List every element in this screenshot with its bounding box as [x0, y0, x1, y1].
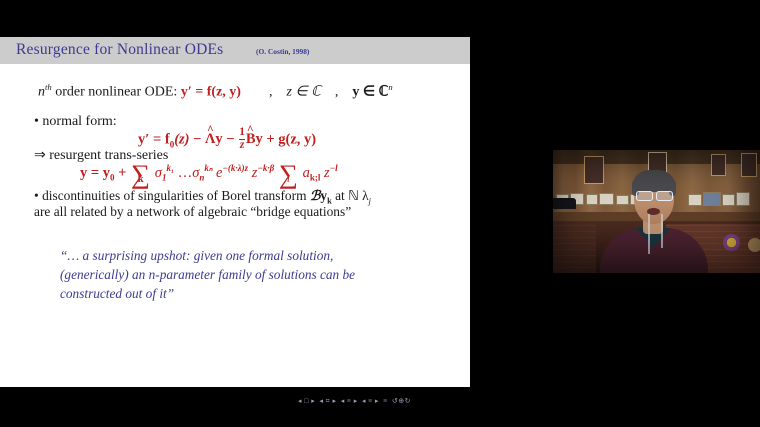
slide-body: nth order nonlinear ODE: y′ = f(z, y),z …	[0, 64, 470, 387]
webcam-video-panel[interactable]	[548, 150, 760, 273]
nav-frame-icon[interactable]: ◂ ⌗ ▸	[320, 397, 337, 405]
slide-citation: (O. Costin, 1998)	[256, 47, 309, 56]
eq1-fraction: 1z	[239, 127, 245, 151]
intro-comma-1: ,	[269, 85, 273, 100]
eq2-y0: y	[103, 165, 110, 181]
quote-line-2: (generically) an n-parameter family of s…	[60, 266, 355, 285]
lambda-sub-j: j	[369, 197, 371, 206]
discontinuities-text-c: at ℕ λ	[335, 188, 369, 203]
eq2-sum-l: ∑l	[279, 165, 298, 184]
intro-domain-y: y ∈ ℂ	[352, 85, 388, 100]
eq2-sum-k: ∑k	[131, 165, 150, 184]
nav-slide-icon[interactable]: ◂ □ ▸	[298, 397, 315, 405]
bullet-normal-form-label: normal form:	[42, 114, 116, 129]
eq2-sigma-n-sub: n	[199, 173, 204, 183]
intro-text: order nonlinear ODE:	[55, 85, 177, 100]
eq2-y0-sub: 0	[110, 173, 115, 183]
equation-trans-series: y = y0 + ∑k σ1k₁ …σnkₙ e−(k·λ)z z−k·β ∑l…	[80, 163, 338, 183]
eq2-plus: +	[118, 165, 126, 181]
eq2-equals: =	[91, 165, 99, 181]
eq1-fraction-denominator: z	[239, 139, 245, 152]
quote-line-3: constructed out of it”	[60, 285, 355, 304]
eq2-sigma-1-sub: 1	[162, 173, 167, 183]
nav-subsection-icon[interactable]: ◂ ≡ ▸	[341, 397, 358, 405]
video-vignette	[548, 150, 760, 273]
eq1-term-lambda: ^Λy	[205, 131, 223, 147]
implies-arrow-icon: ⇒	[34, 148, 46, 163]
eq1-lhs: y′	[138, 131, 149, 147]
bullet-marker-icon: •	[34, 188, 39, 203]
eq2-sigma-1: σ	[155, 165, 162, 181]
eq2-z-power: −k·β	[257, 163, 274, 173]
slide-title: Resurgence for Nonlinear ODEs	[16, 41, 223, 59]
slide-title-bar: Resurgence for Nonlinear ODEs (O. Costin…	[0, 37, 470, 64]
eq1-plus: +	[266, 131, 274, 147]
intro-prefix: n	[38, 85, 45, 100]
beamer-navigation-bar[interactable]: ◂ □ ▸ ◂ ⌗ ▸ ◂ ≡ ▸ ◂ ≡ ▸ ≡ ↺⊕↻	[297, 397, 462, 409]
eq2-sum-l-limit: l	[279, 176, 298, 184]
nav-document-icon[interactable]: ≡	[383, 397, 387, 405]
presentation-slide: Resurgence for Nonlinear ODEs (O. Costin…	[0, 37, 470, 387]
eq2-coefficient: a	[303, 165, 310, 181]
bullet-discontinuities-line-2: are all related by a network of algebrai…	[34, 204, 351, 220]
eq2-lhs: y	[80, 165, 87, 181]
intro-domain-y-exponent: n	[388, 82, 392, 92]
bullet-marker-icon: •	[34, 114, 39, 129]
intro-ode-line: nth order nonlinear ODE: y′ = f(z, y),z …	[38, 82, 393, 101]
intro-equation: y′ = f(z, y)	[181, 85, 241, 100]
intro-domain-z: z ∈ ℂ	[286, 85, 320, 100]
screen-recording-view: Resurgence for Nonlinear ODEs (O. Costin…	[0, 0, 760, 427]
eq1-term-f-arg: (z)	[174, 131, 189, 147]
eq2-sigma-1-sup: k₁	[166, 163, 174, 173]
intro-comma-2: ,	[335, 85, 339, 100]
nav-section-icon[interactable]: ◂ ≡ ▸	[362, 397, 379, 405]
quote-block: “… a surprising upshot: given one formal…	[60, 247, 355, 304]
intro-superscript: th	[45, 82, 52, 92]
video-left-border	[548, 150, 553, 273]
eq1-equals: =	[153, 131, 161, 147]
eq2-dots: …	[178, 165, 193, 181]
bullet-trans-series-label: resurgent trans-series	[49, 148, 168, 163]
discontinuities-text-a: discontinuities of singularities of Bore…	[42, 188, 306, 203]
eq1-fraction-numerator: 1	[239, 127, 245, 139]
eq2-sum-k-limit: k	[131, 176, 150, 184]
borel-transform-symbol: ℬ	[310, 188, 321, 204]
eq1-minus-1: −	[193, 131, 201, 147]
nav-back-forward-icon[interactable]: ↺⊕↻	[392, 397, 411, 405]
eq1-term-g: g(z, y)	[278, 131, 316, 147]
eq2-coefficient-sub: k;l	[310, 173, 321, 183]
bullet-normal-form: • normal form:	[34, 114, 117, 130]
eq1-minus-2: −	[226, 131, 234, 147]
eq2-exp-power: −(k·λ)z	[222, 163, 248, 173]
eq2-z-tail-power: −l	[330, 163, 338, 173]
quote-line-1: “… a surprising upshot: given one formal…	[60, 247, 355, 266]
eq2-sigma-n-sup: kₙ	[204, 163, 212, 173]
eq1-term-b: ^By	[246, 131, 263, 147]
